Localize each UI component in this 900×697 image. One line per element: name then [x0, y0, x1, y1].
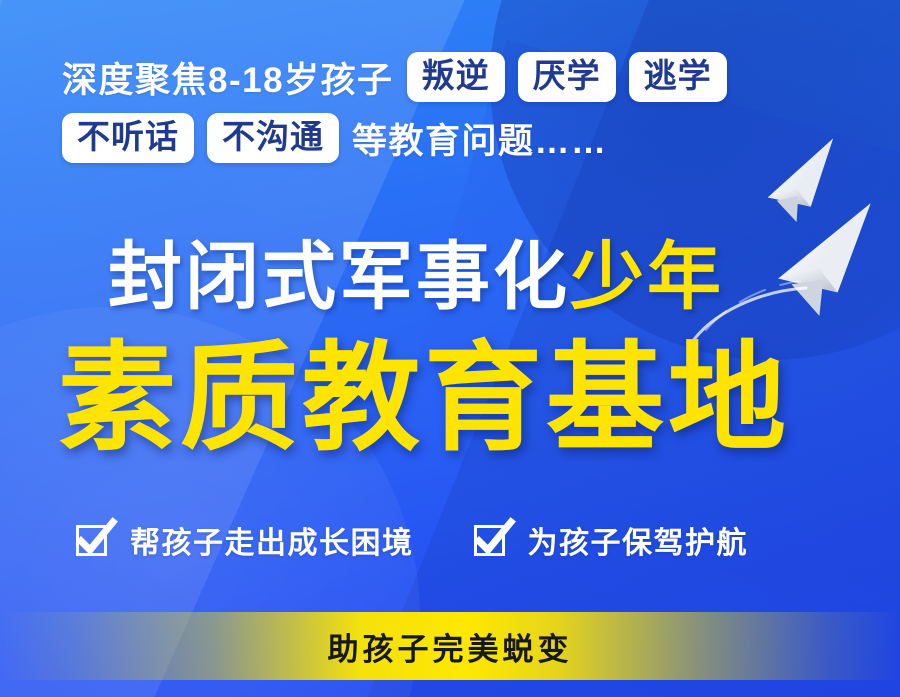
feature-list: 帮孩子走出成长困境 为孩子保驾护航: [74, 518, 864, 562]
feature-item: 为孩子保驾护航: [472, 518, 749, 562]
header-trail-text: 等教育问题……: [352, 113, 608, 164]
checkbox-check-icon: [472, 520, 512, 560]
paper-plane-icon: [768, 203, 888, 322]
headline-line-2: 素质教育基地: [58, 340, 790, 458]
promo-poster: 深度聚焦8-18岁孩子 叛逆 厌学 逃学 不听话 不沟通 等教育问题…… 封闭式…: [0, 0, 900, 697]
headline-line-1-white: 封闭式军事化: [108, 235, 570, 318]
checkbox-check-icon: [74, 520, 114, 560]
feature-label: 帮孩子走出成长困境: [130, 518, 414, 562]
problem-tag-truancy[interactable]: 逃学: [629, 52, 727, 102]
header-block: 深度聚焦8-18岁孩子 叛逆 厌学 逃学 不听话 不沟通 等教育问题……: [62, 52, 852, 174]
problem-tag-no-communication[interactable]: 不沟通: [207, 113, 339, 163]
problem-tag-rebellion[interactable]: 叛逆: [407, 52, 505, 102]
headline-line-1: 封闭式军事化少年: [108, 240, 724, 314]
ribbon-text: 助孩子完美蜕变: [328, 624, 573, 669]
headline-line-1-yellow: 少年: [570, 235, 724, 318]
header-line-2: 不听话 不沟通 等教育问题……: [62, 113, 852, 163]
problem-tag-disobedient[interactable]: 不听话: [62, 113, 194, 163]
bottom-ribbon: 助孩子完美蜕变: [0, 612, 900, 680]
feature-label: 为孩子保驾护航: [528, 518, 749, 562]
feature-item: 帮孩子走出成长困境: [74, 518, 414, 562]
problem-tag-school-aversion[interactable]: 厌学: [518, 52, 616, 102]
header-lead-text: 深度聚焦8-18岁孩子: [62, 52, 394, 103]
header-line-1: 深度聚焦8-18岁孩子 叛逆 厌学 逃学: [62, 52, 852, 102]
